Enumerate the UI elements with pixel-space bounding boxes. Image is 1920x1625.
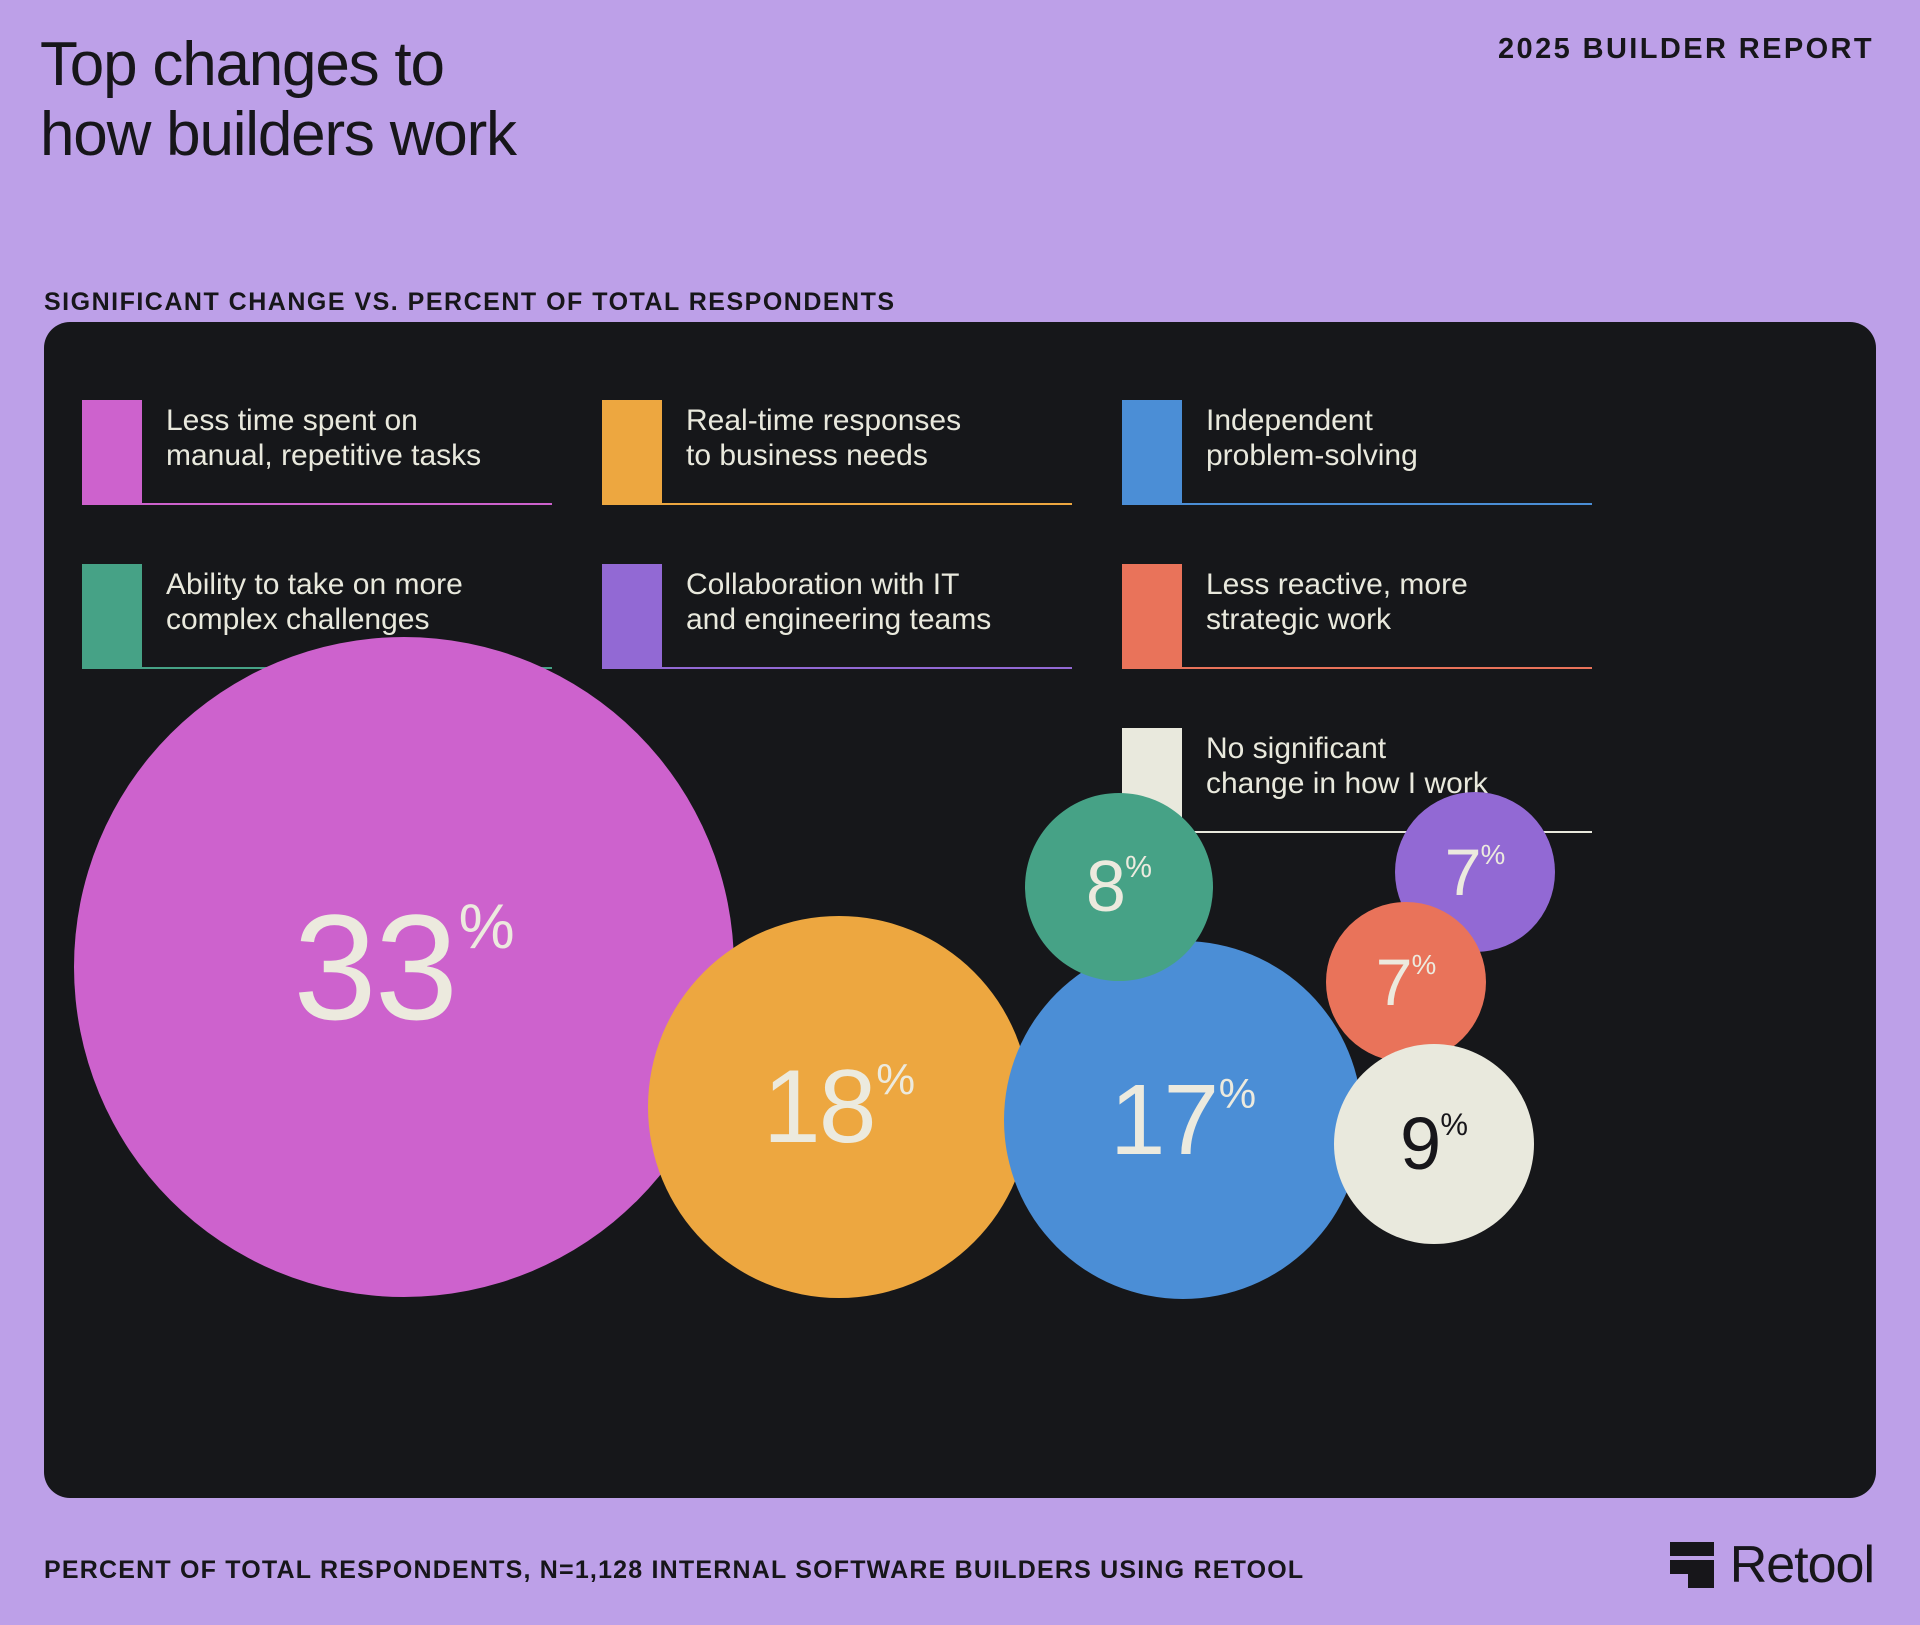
bubble[interactable]: 9% [1334,1044,1534,1244]
percent-symbol: % [1219,1073,1256,1115]
bubble-number: 18 [763,1055,875,1159]
brand-name: Retool [1730,1535,1874,1595]
percent-symbol: % [459,896,515,959]
bubble-number: 33 [293,892,456,1042]
bubble-number: 7 [1376,949,1411,1015]
percent-symbol: % [1125,853,1152,883]
bubble[interactable]: 17% [1004,941,1362,1299]
footer-note: PERCENT OF TOTAL RESPONDENTS, N=1,128 IN… [44,1556,1304,1585]
bubble-value: 7% [1376,949,1436,1015]
bubble-value: 18% [763,1055,915,1159]
report-tag: 2025 BUILDER REPORT [1498,33,1874,66]
bubble-number: 17 [1110,1070,1217,1170]
percent-symbol: % [1481,841,1506,869]
retool-logo-icon [1670,1540,1714,1590]
bubble-value: 17% [1110,1070,1256,1170]
bubble-value: 8% [1086,851,1152,923]
percent-symbol: % [876,1058,915,1102]
page-header: Top changes to how builders work 2025 BU… [0,0,1920,230]
bubble[interactable]: 8% [1025,793,1213,981]
bubble-value: 9% [1400,1107,1468,1181]
bubble-number: 8 [1086,851,1124,923]
percent-symbol: % [1412,951,1437,979]
page-title: Top changes to how builders work [40,30,516,170]
bubble-chart-plot-area: 33%18%17%8%7%7%9% [44,322,1876,1498]
percent-symbol: % [1440,1109,1468,1140]
bubble-number: 7 [1445,839,1480,905]
bubble-number: 9 [1400,1107,1439,1181]
retool-brand: Retool [1670,1535,1874,1595]
section-label: SIGNIFICANT CHANGE VS. PERCENT OF TOTAL … [44,288,896,317]
chart-card: Less time spent on manual, repetitive ta… [44,322,1876,1498]
bubble-value: 7% [1445,839,1505,905]
bubble-value: 33% [293,892,514,1042]
bubble[interactable]: 7% [1326,902,1486,1062]
bubble[interactable]: 18% [648,916,1030,1298]
bubble[interactable]: 33% [74,637,734,1297]
